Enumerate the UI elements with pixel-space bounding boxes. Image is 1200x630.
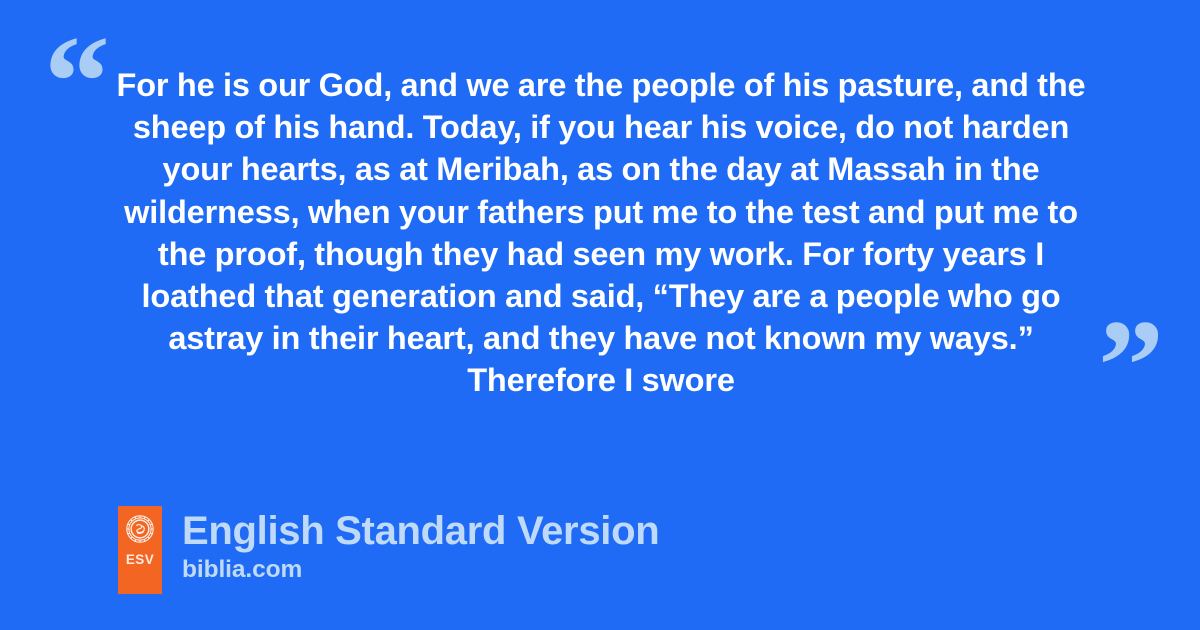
esv-logo-label: ESV [126,553,154,567]
quote-container: For he is our God, and we are the people… [112,64,1090,402]
close-quote-icon: ” [1098,300,1162,432]
esv-logo: ESV [118,506,162,594]
footer-branding: ESV English Standard Version biblia.com [118,506,659,594]
quote-text: For he is our God, and we are the people… [112,64,1090,402]
site-url-label: biblia.com [182,555,659,585]
open-quote-icon: “ [44,16,108,148]
brand-text-block: English Standard Version biblia.com [182,506,659,585]
bible-version-title: English Standard Version [182,508,659,554]
verse-share-card: “ For he is our God, and we are the peop… [0,0,1200,630]
esv-seal-emblem-icon [125,514,155,544]
